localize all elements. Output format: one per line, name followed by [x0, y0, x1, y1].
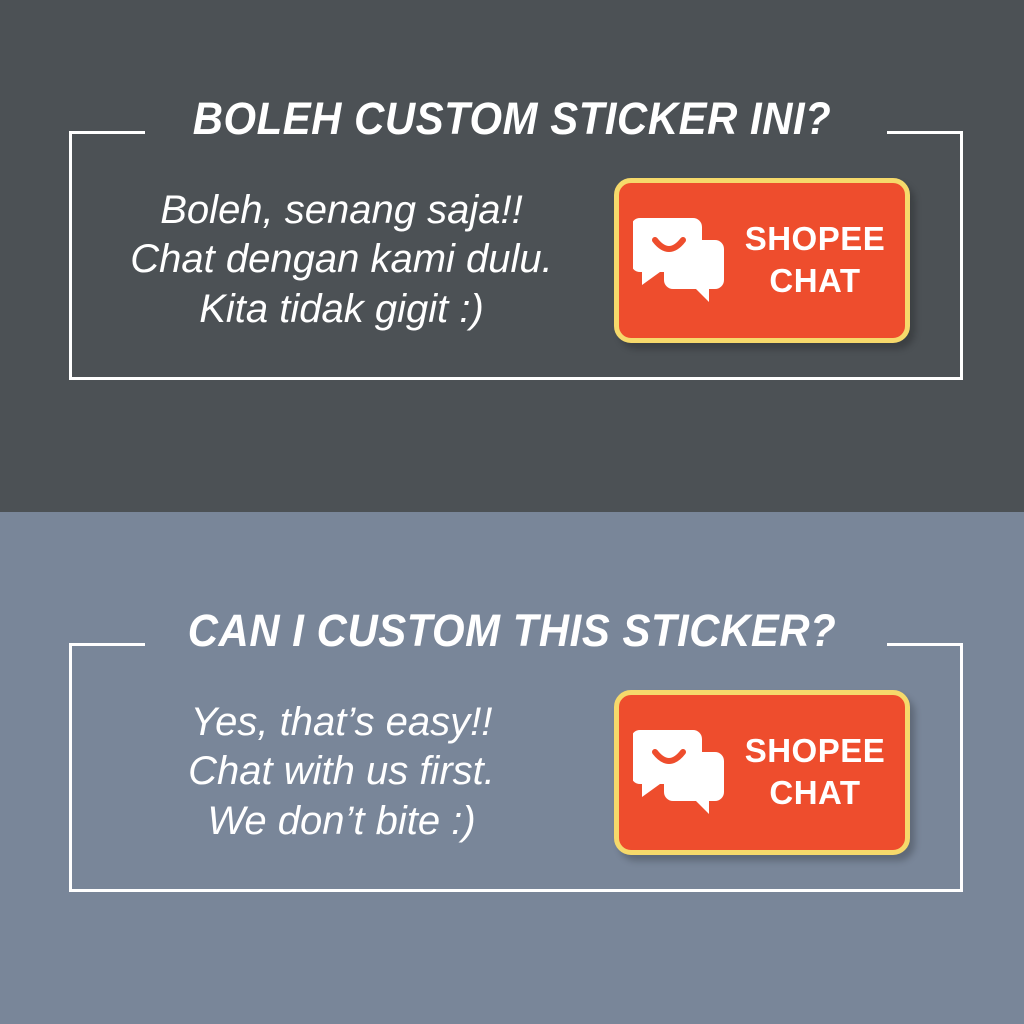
body-line: Kita tidak gigit :): [69, 285, 614, 335]
frame-edge-bottom: [69, 889, 963, 892]
chat-label-line: CHAT: [745, 260, 886, 302]
panel-body-text: Yes, that’s easy!! Chat with us first. W…: [69, 698, 614, 847]
panel-content: Boleh, senang saja!! Chat dengan kami du…: [69, 170, 963, 350]
shopee-chat-label: SHOPEE CHAT: [745, 730, 886, 814]
panel-indonesian: BOLEH CUSTOM STICKER INI? Boleh, senang …: [0, 0, 1024, 512]
shopee-chat-label: SHOPEE CHAT: [745, 218, 886, 302]
chat-label-line: SHOPEE: [745, 730, 886, 772]
panel-content: Yes, that’s easy!! Chat with us first. W…: [69, 682, 963, 862]
shopee-chat-button[interactable]: SHOPEE CHAT: [614, 690, 910, 855]
panel-title: CAN I CUSTOM THIS STICKER?: [36, 608, 988, 653]
chat-bubbles-icon: [633, 726, 729, 818]
sticker-graphic: BOLEH CUSTOM STICKER INI? Boleh, senang …: [0, 0, 1024, 1024]
shopee-chat-button[interactable]: SHOPEE CHAT: [614, 178, 910, 343]
panel-english: CAN I CUSTOM THIS STICKER? Yes, that’s e…: [0, 512, 1024, 1024]
body-line: Boleh, senang saja!!: [69, 186, 614, 236]
chat-label-line: SHOPEE: [745, 218, 886, 260]
frame-edge-bottom: [69, 377, 963, 380]
panel-title: BOLEH CUSTOM STICKER INI?: [36, 96, 988, 141]
chat-label-line: CHAT: [745, 772, 886, 814]
panel-body-text: Boleh, senang saja!! Chat dengan kami du…: [69, 186, 614, 335]
body-line: We don’t bite :): [69, 797, 614, 847]
chat-bubbles-icon: [633, 214, 729, 306]
body-line: Chat dengan kami dulu.: [69, 235, 614, 285]
body-line: Chat with us first.: [69, 747, 614, 797]
body-line: Yes, that’s easy!!: [69, 698, 614, 748]
